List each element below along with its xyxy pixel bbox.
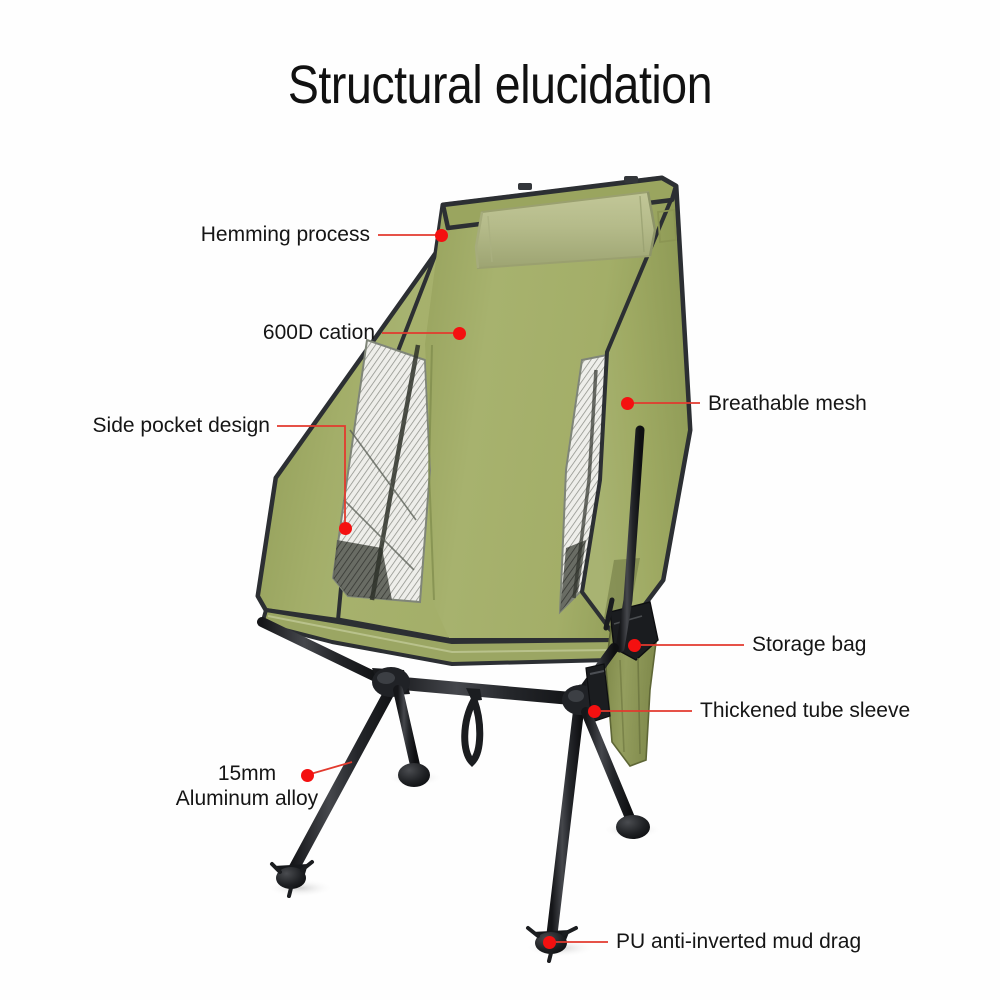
product-structure-diagram: Structural elucidation: [0, 0, 1000, 1000]
callout-dot-side-pocket-design[interactable]: [339, 522, 352, 535]
callout-dot-breathable-mesh[interactable]: [621, 397, 634, 410]
frame-hub-left: [372, 667, 410, 697]
callout-dot-hemming-process[interactable]: [435, 229, 448, 242]
callout-label-pu-mud-drag: PU anti-inverted mud drag: [616, 930, 861, 955]
callout-label-thickened-tube-sleeve: Thickened tube sleeve: [700, 699, 910, 724]
callout-label-aluminum-alloy-line2: Aluminum alloy: [142, 787, 352, 812]
ball-foot-left: [398, 763, 430, 787]
product-illustration: [0, 0, 1000, 1000]
callout-label-side-pocket-design: Side pocket design: [70, 414, 270, 439]
callout-label-storage-bag: Storage bag: [752, 633, 866, 658]
storage-bag: [606, 600, 658, 766]
callout-dot-storage-bag[interactable]: [628, 639, 641, 652]
callout-label-aluminum-alloy-line1: 15mm: [142, 762, 352, 787]
hanging-strap-loop: [465, 688, 482, 762]
callout-label-600d-cation: 600D cation: [175, 321, 375, 346]
callout-label-hemming-process: Hemming process: [170, 223, 370, 248]
callout-label-aluminum-alloy: 15mm Aluminum alloy: [142, 762, 352, 812]
callout-dot-pu-mud-drag[interactable]: [543, 936, 556, 949]
callout-label-breathable-mesh: Breathable mesh: [708, 392, 867, 417]
callout-dot-600d-cation[interactable]: [453, 327, 466, 340]
callout-dot-thickened-tube-sleeve[interactable]: [588, 705, 601, 718]
ball-foot-right: [616, 815, 650, 839]
